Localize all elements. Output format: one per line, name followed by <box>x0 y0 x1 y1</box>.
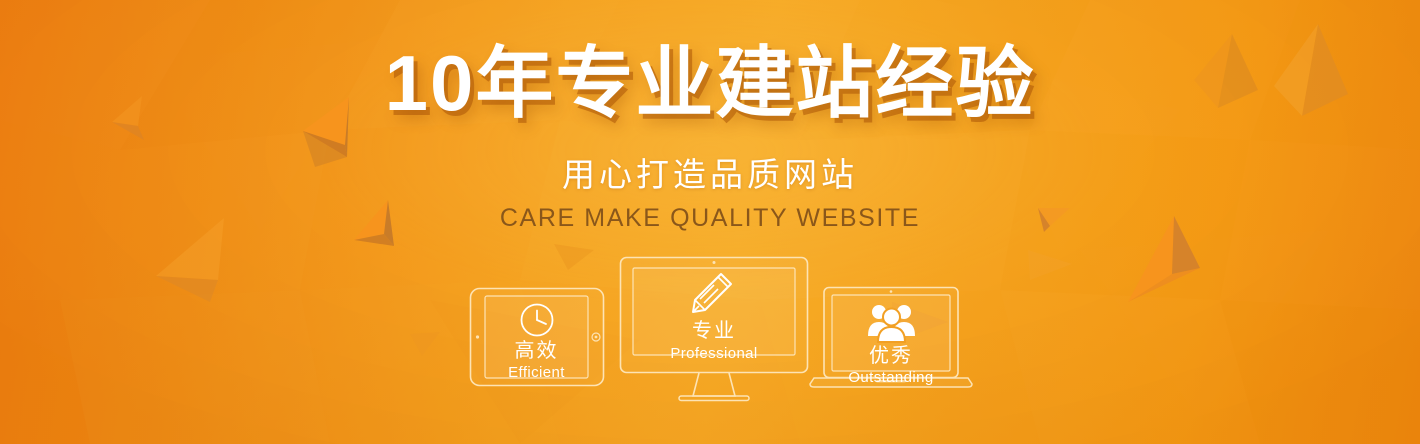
device-illustration-group: 高效 Efficient <box>455 250 975 410</box>
device-card-monitor <box>619 256 809 411</box>
decorative-tetrahedron <box>1024 240 1094 300</box>
promo-banner: 10年专业建站经验 用心打造品质网站 CARE MAKE QUALITY WEB… <box>0 0 1420 444</box>
device-card-laptop <box>808 286 974 396</box>
page-title: 10年专业建站经验 <box>0 40 1420 126</box>
subtitle-english: CARE MAKE QUALITY WEBSITE <box>0 203 1420 233</box>
device-card-tablet <box>469 287 605 387</box>
subtitle-chinese: 用心打造品质网站 <box>0 154 1420 196</box>
decorative-tetrahedron <box>406 322 456 368</box>
